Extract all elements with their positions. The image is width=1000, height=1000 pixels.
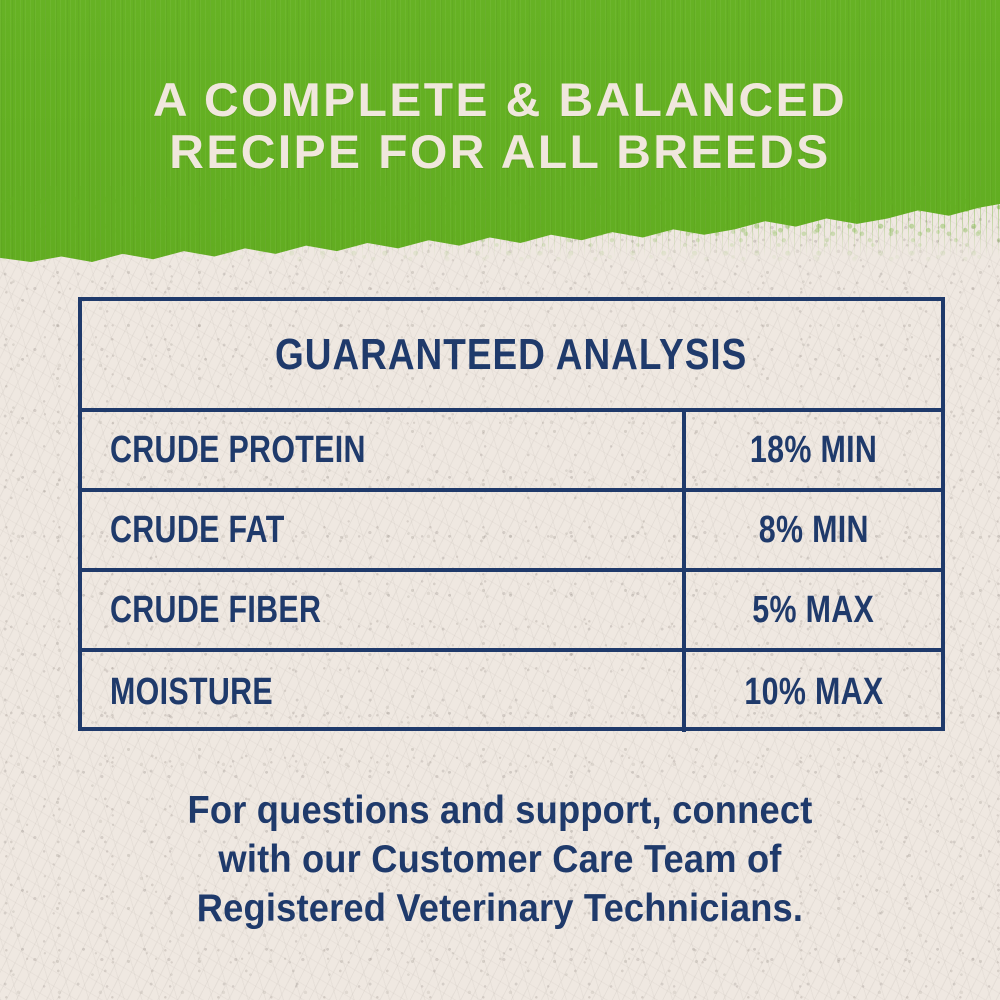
footer-line-3: Registered Veterinary Technicians.: [82, 884, 919, 933]
nutrient-value: 5% MAX: [753, 589, 875, 632]
nutrient-cell: CRUDE FIBER: [82, 572, 686, 648]
nutrient-value: 8% MIN: [758, 509, 868, 552]
nutrient-cell: MOISTURE: [82, 652, 686, 732]
footer-line-2: with our Customer Care Team of: [82, 835, 919, 884]
value-cell: 5% MAX: [686, 572, 941, 648]
value-cell: 10% MAX: [686, 652, 941, 732]
guaranteed-analysis-table: GUARANTEED ANALYSIS CRUDE PROTEIN 18% MI…: [78, 297, 945, 731]
table-header-row: GUARANTEED ANALYSIS: [82, 301, 941, 412]
page-title: A COMPLETE & BALANCED RECIPE FOR ALL BRE…: [0, 74, 1000, 178]
table-row: CRUDE FAT 8% MIN: [82, 492, 941, 572]
nutrient-label: CRUDE FIBER: [110, 589, 321, 632]
value-cell: 8% MIN: [686, 492, 941, 568]
value-cell: 18% MIN: [686, 412, 941, 488]
table-title: GUARANTEED ANALYSIS: [275, 330, 747, 380]
footer-line-1: For questions and support, connect: [82, 786, 919, 835]
customer-care-message: For questions and support, connect with …: [82, 786, 919, 933]
nutrient-cell: CRUDE FAT: [82, 492, 686, 568]
table-row: MOISTURE 10% MAX: [82, 652, 941, 732]
table-row: CRUDE FIBER 5% MAX: [82, 572, 941, 652]
nutrient-label: CRUDE PROTEIN: [110, 429, 366, 472]
headline-line-1: A COMPLETE & BALANCED: [0, 74, 1000, 126]
nutrient-label: MOISTURE: [110, 671, 273, 714]
nutrient-label: CRUDE FAT: [110, 509, 285, 552]
table-row: CRUDE PROTEIN 18% MIN: [82, 412, 941, 492]
nutrient-value: 18% MIN: [750, 429, 877, 472]
nutrient-cell: CRUDE PROTEIN: [82, 412, 686, 488]
headline-line-2: RECIPE FOR ALL BREEDS: [0, 126, 1000, 178]
product-info-panel: A COMPLETE & BALANCED RECIPE FOR ALL BRE…: [0, 0, 1000, 1000]
nutrient-value: 10% MAX: [744, 671, 883, 714]
